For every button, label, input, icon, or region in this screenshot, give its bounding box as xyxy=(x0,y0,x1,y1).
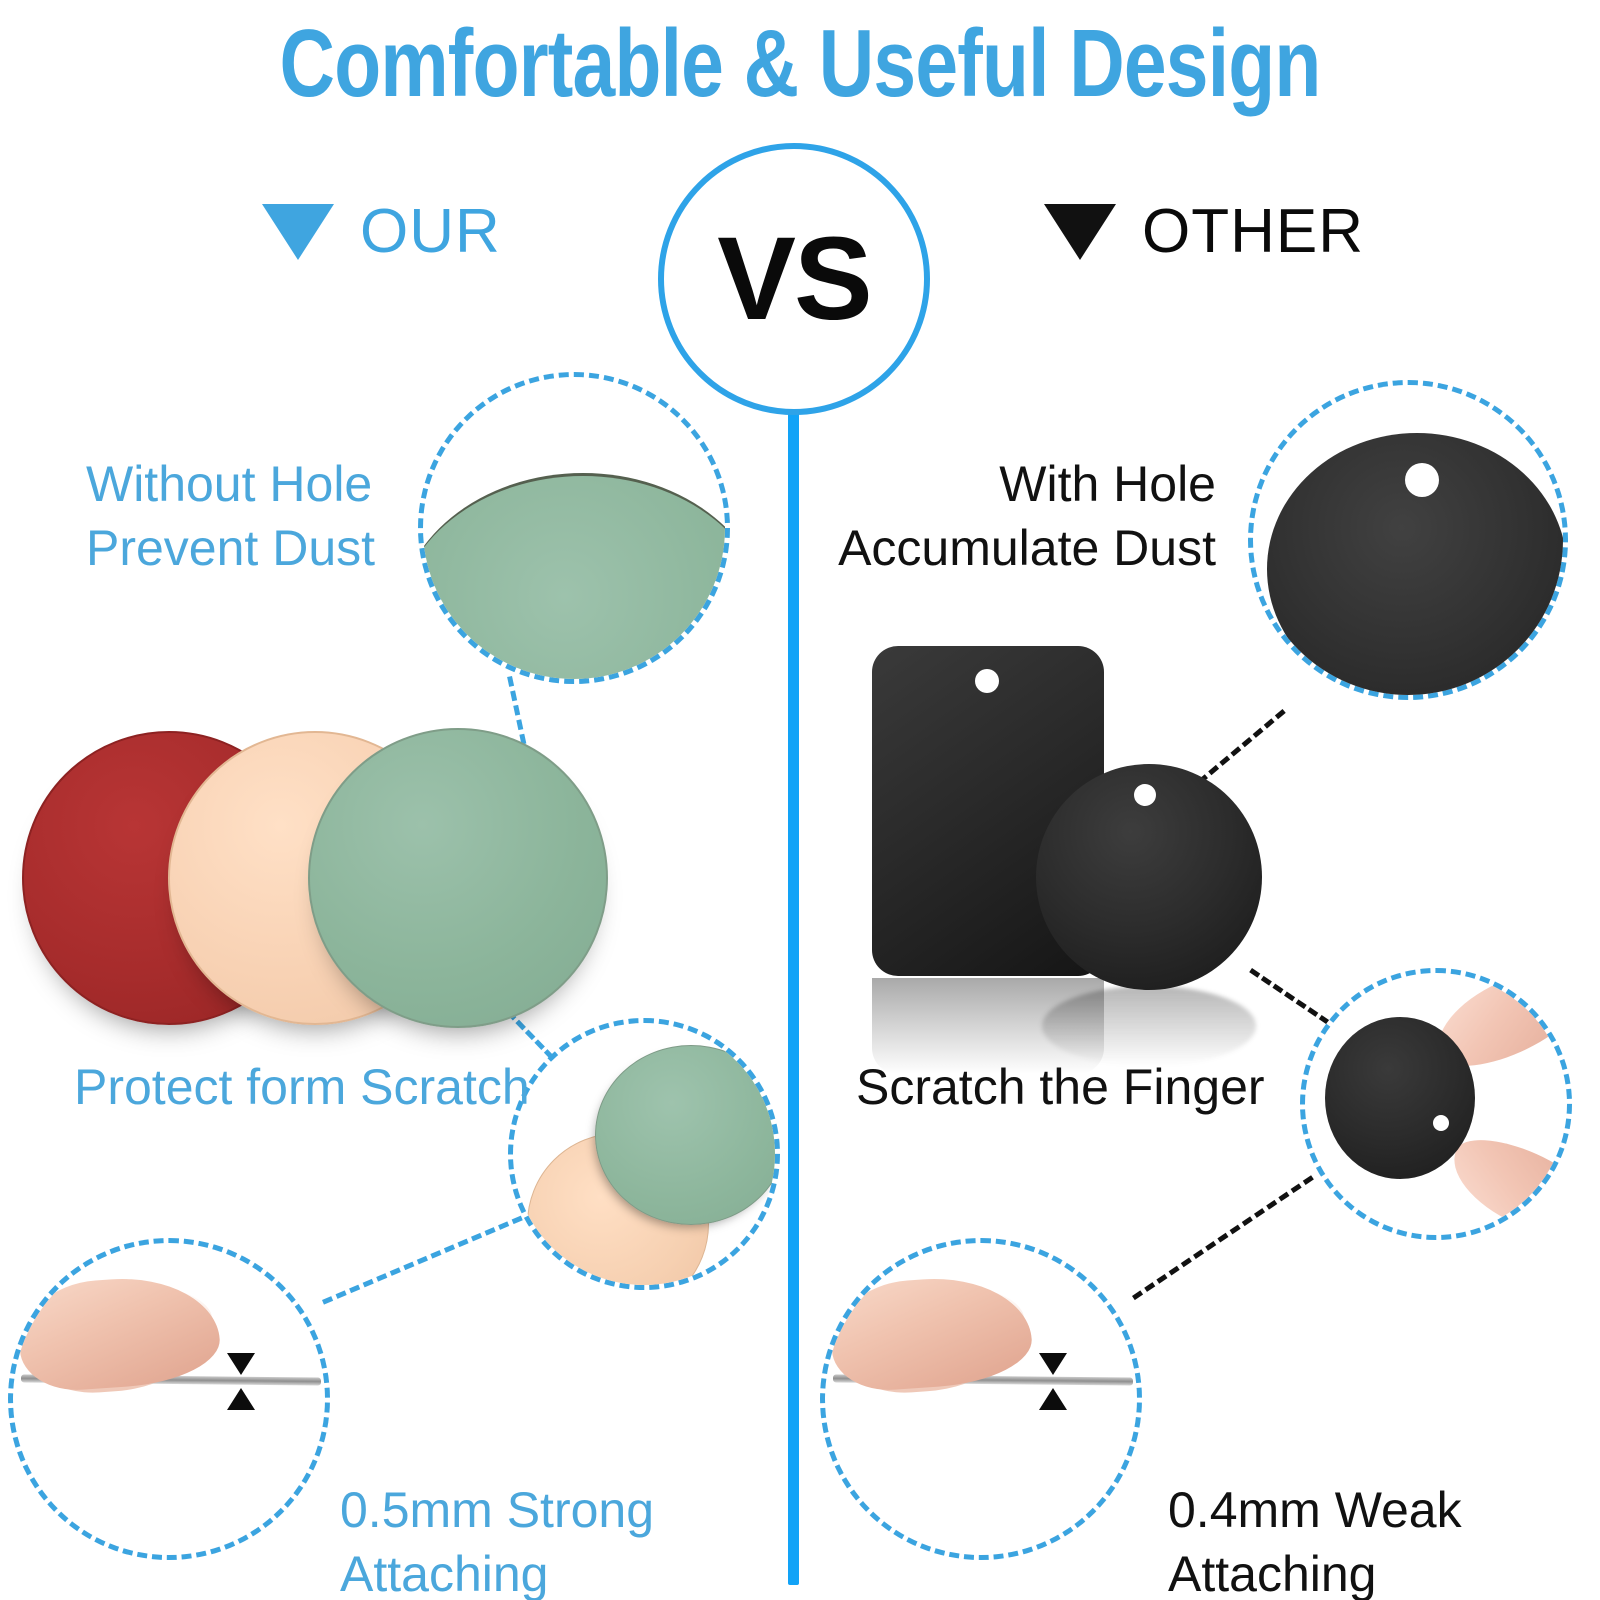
thickness-arrow-up-icon-other xyxy=(1039,1388,1067,1410)
other-label: OTHER xyxy=(1142,196,1364,267)
pinched-disc-hole-icon xyxy=(1433,1115,1449,1131)
infographic-page: Comfortable & Useful Design OUR OTHER VS… xyxy=(0,0,1600,1600)
rect-plate-hole-icon xyxy=(975,669,999,693)
callout-with-hole xyxy=(1248,380,1568,700)
vs-badge: VS xyxy=(658,143,930,415)
plate-round-reflection xyxy=(1042,986,1256,1066)
center-divider xyxy=(788,400,799,1585)
callout-scratch-the-finger xyxy=(1300,968,1572,1240)
disc-hole-icon xyxy=(1405,463,1439,497)
triangle-down-blue-icon xyxy=(262,204,334,260)
callout-protect-from-scratch xyxy=(508,1018,780,1290)
callout-thickness-our xyxy=(8,1238,330,1560)
connector-thin-to-stack-our xyxy=(322,1216,523,1305)
other-scratch-caption: Scratch the Finger xyxy=(856,1055,1265,1119)
pinched-black-disc xyxy=(1325,1017,1475,1179)
page-title: Comfortable & Useful Design xyxy=(160,14,1440,115)
callout-without-hole xyxy=(418,372,730,684)
triangle-down-black-icon xyxy=(1044,204,1116,260)
our-label: OUR xyxy=(360,196,501,267)
magnified-green-disc-no-hole xyxy=(418,473,730,684)
callout-thickness-other xyxy=(820,1238,1142,1560)
our-column-header: OUR xyxy=(262,196,501,267)
other-thickness-caption: 0.4mm Weak Attaching xyxy=(1168,1478,1462,1600)
product-disc-green xyxy=(308,728,608,1028)
thickness-arrow-up-icon-our xyxy=(227,1388,255,1410)
other-dust-caption: With Hole Accumulate Dust xyxy=(816,452,1216,580)
stacked-disc-green xyxy=(595,1045,780,1225)
thickness-arrow-down-icon-other xyxy=(1039,1353,1067,1375)
our-scratch-caption: Protect form Scratch xyxy=(74,1055,530,1119)
our-thickness-caption: 0.5mm Strong Attaching xyxy=(340,1478,654,1600)
our-dust-caption: Without Hole Prevent Dust xyxy=(86,452,375,580)
other-column-header: OTHER xyxy=(1044,196,1364,267)
vs-label: VS xyxy=(664,149,924,409)
round-plate-hole-icon xyxy=(1134,784,1156,806)
connector-thin-to-pinch-other xyxy=(1132,1175,1314,1300)
thickness-arrow-down-icon-our xyxy=(227,1353,255,1375)
